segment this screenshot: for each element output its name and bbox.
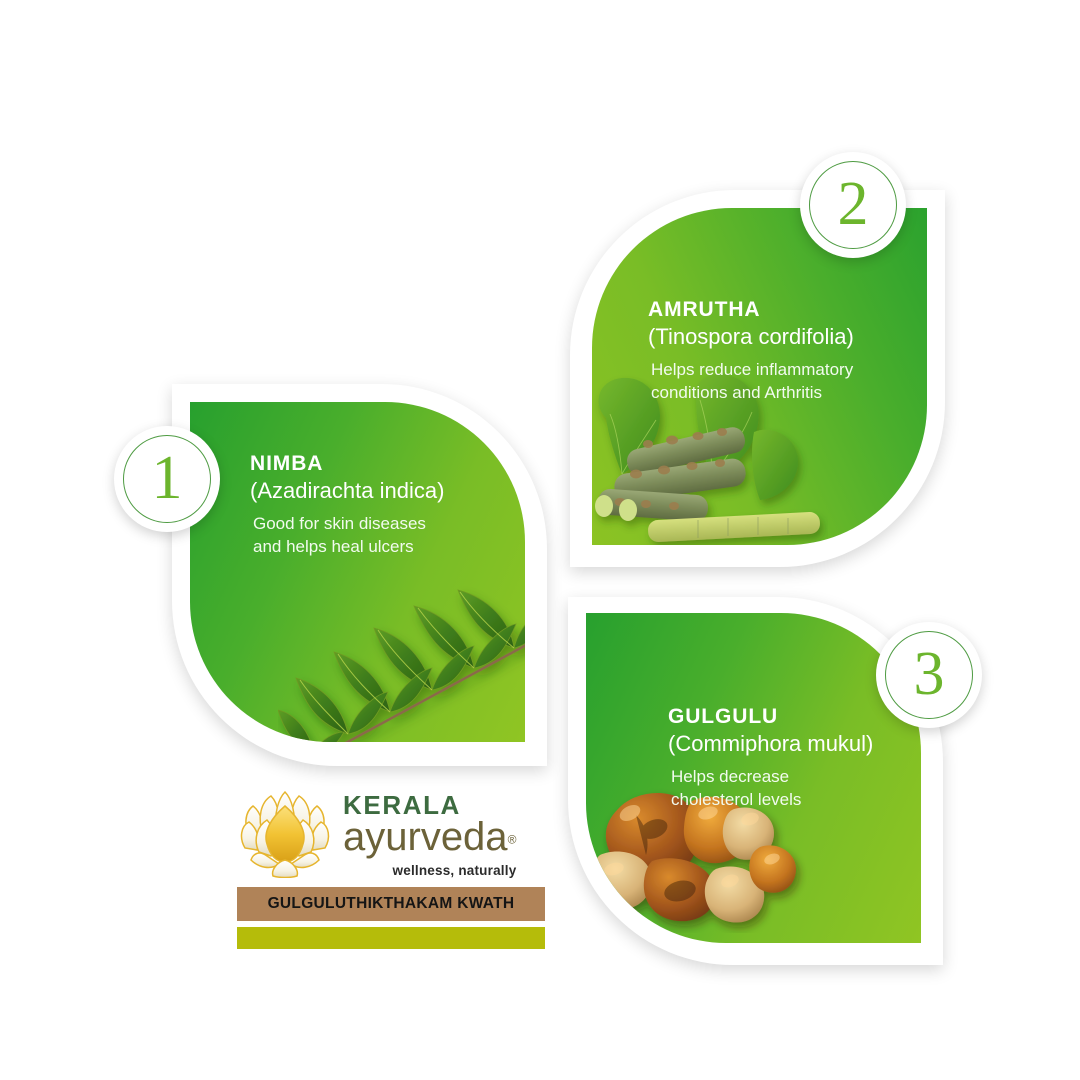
logo-row: KERALA ayurveda® wellness, naturally <box>237 786 545 878</box>
herb-description: Helps decrease cholesterol levels <box>668 765 933 812</box>
herb-name: NIMBA <box>250 452 515 476</box>
herb-latin-name: (Azadirachta indica) <box>250 478 515 504</box>
brand-logo-block[interactable]: KERALA ayurveda® wellness, naturally GUL… <box>237 786 545 949</box>
brand-wordmark: KERALA ayurveda® wellness, naturally <box>343 786 516 878</box>
herb-latin-name: (Tinospora cordifolia) <box>648 324 928 350</box>
infographic-canvas: NIMBA (Azadirachta indica) Good for skin… <box>0 0 1080 1080</box>
lotus-flower-icon <box>237 786 333 878</box>
badge-number: 3 <box>914 643 945 705</box>
desc-line-1: Helps decrease <box>671 767 789 786</box>
card-text-block: NIMBA (Azadirachta indica) Good for skin… <box>250 452 515 558</box>
herb-description: Good for skin diseases and helps heal ul… <box>250 512 515 559</box>
neem-leaf-branch-photo <box>278 582 525 742</box>
step-badge-3[interactable]: 3 <box>876 622 982 728</box>
step-badge-1[interactable]: 1 <box>114 426 220 532</box>
product-name-bar: GULGULUTHIKTHAKAM KWATH <box>237 887 545 921</box>
herb-card-gulgulu[interactable]: GULGULU (Commiphora mukul) Helps decreas… <box>568 597 943 965</box>
herb-card-amrutha[interactable]: AMRUTHA (Tinospora cordifolia) Helps red… <box>570 190 945 567</box>
herb-name: AMRUTHA <box>648 298 928 322</box>
card-text-block: AMRUTHA (Tinospora cordifolia) Helps red… <box>648 298 928 404</box>
registered-mark: ® <box>508 833 517 847</box>
desc-line-1: Good for skin diseases <box>253 514 426 533</box>
herb-card-nimba[interactable]: NIMBA (Azadirachta indica) Good for skin… <box>172 384 547 766</box>
card-text-block: GULGULU (Commiphora mukul) Helps decreas… <box>668 705 933 811</box>
herb-description: Helps reduce inflammatory conditions and… <box>648 358 928 405</box>
accent-bar <box>237 927 545 949</box>
badge-number: 1 <box>152 447 183 509</box>
desc-line-2: conditions and Arthritis <box>651 383 822 402</box>
brand-tagline: wellness, naturally <box>343 863 516 878</box>
desc-line-2: and helps heal ulcers <box>253 537 414 556</box>
brand-ayurveda-text: ayurveda <box>343 817 508 857</box>
herb-latin-name: (Commiphora mukul) <box>668 731 933 757</box>
step-badge-2[interactable]: 2 <box>800 152 906 258</box>
desc-line-1: Helps reduce inflammatory <box>651 360 853 379</box>
badge-number: 2 <box>838 173 869 235</box>
desc-line-2: cholesterol levels <box>671 790 801 809</box>
